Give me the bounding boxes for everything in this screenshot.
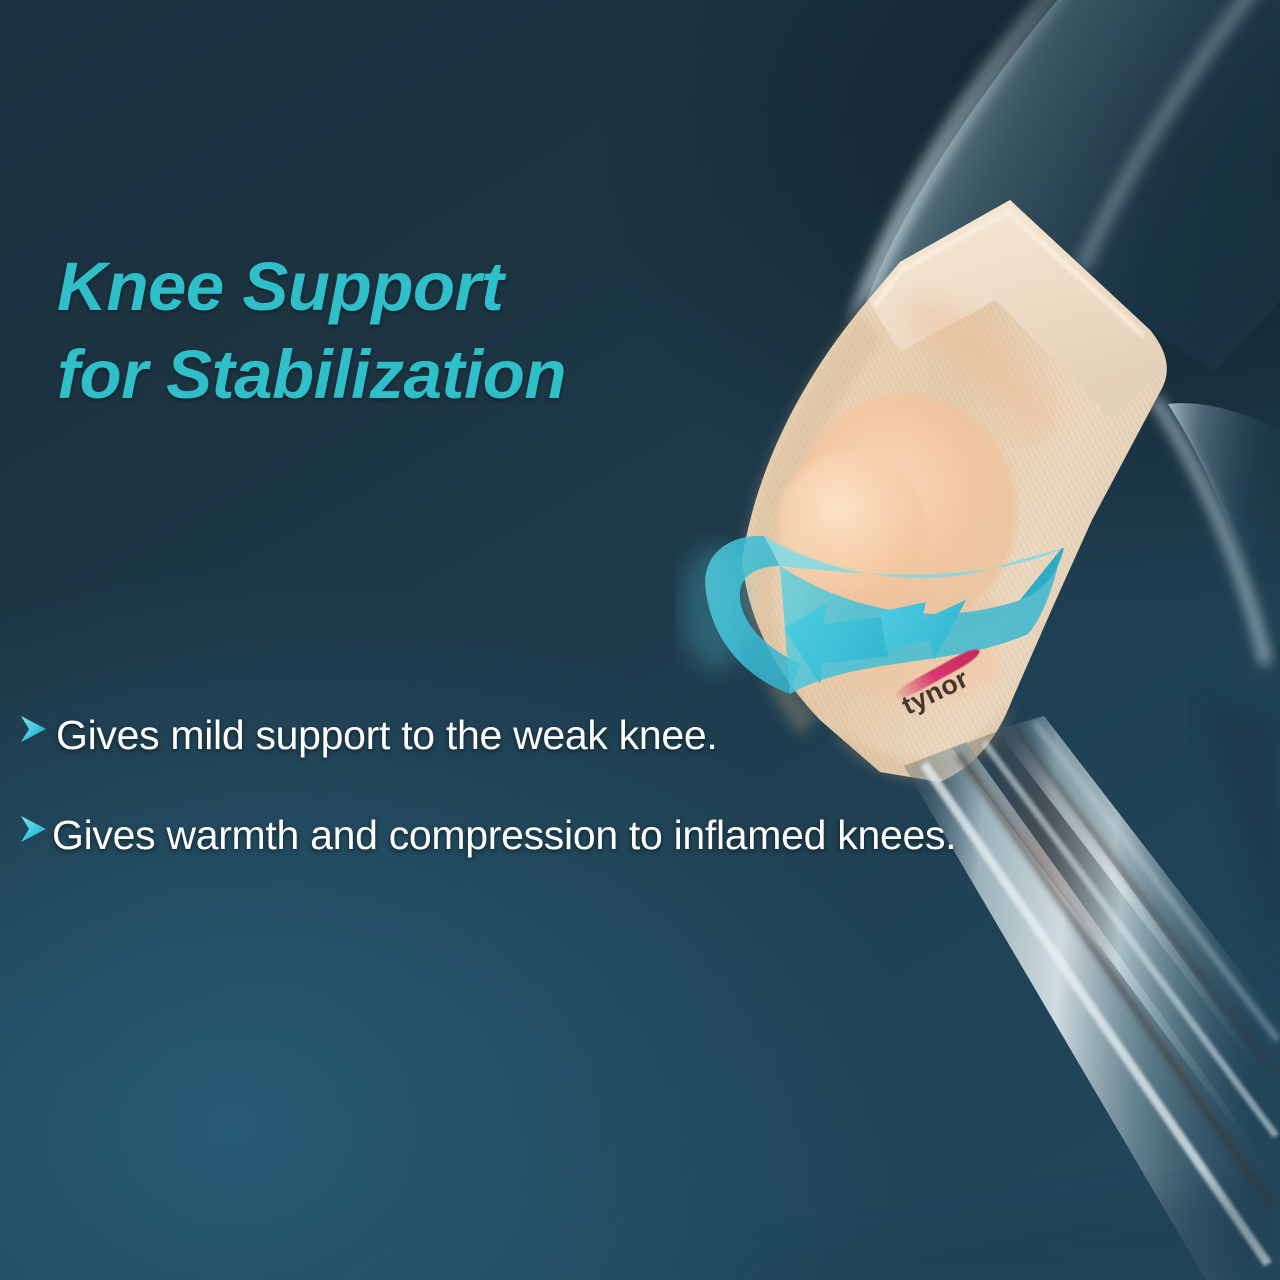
list-item-label: Gives warmth and compression to inflamed… — [52, 806, 958, 864]
text-layer: Knee Support for Stabilization — [0, 0, 1280, 1280]
arrow-bullet-icon — [18, 706, 56, 744]
list-item: Gives mild support to the weak knee. — [18, 706, 958, 764]
benefit-list: Gives mild support to the weak knee. — [18, 706, 958, 906]
list-item: Gives warmth and compression to inflamed… — [18, 806, 958, 864]
list-item-label: Gives mild support to the weak knee. — [56, 706, 958, 764]
page-title: Knee Support for Stabilization — [57, 243, 566, 420]
arrow-bullet-icon — [18, 806, 52, 844]
knee-support-ad: tynor Knee Support for Stabilization — [0, 0, 1280, 1280]
